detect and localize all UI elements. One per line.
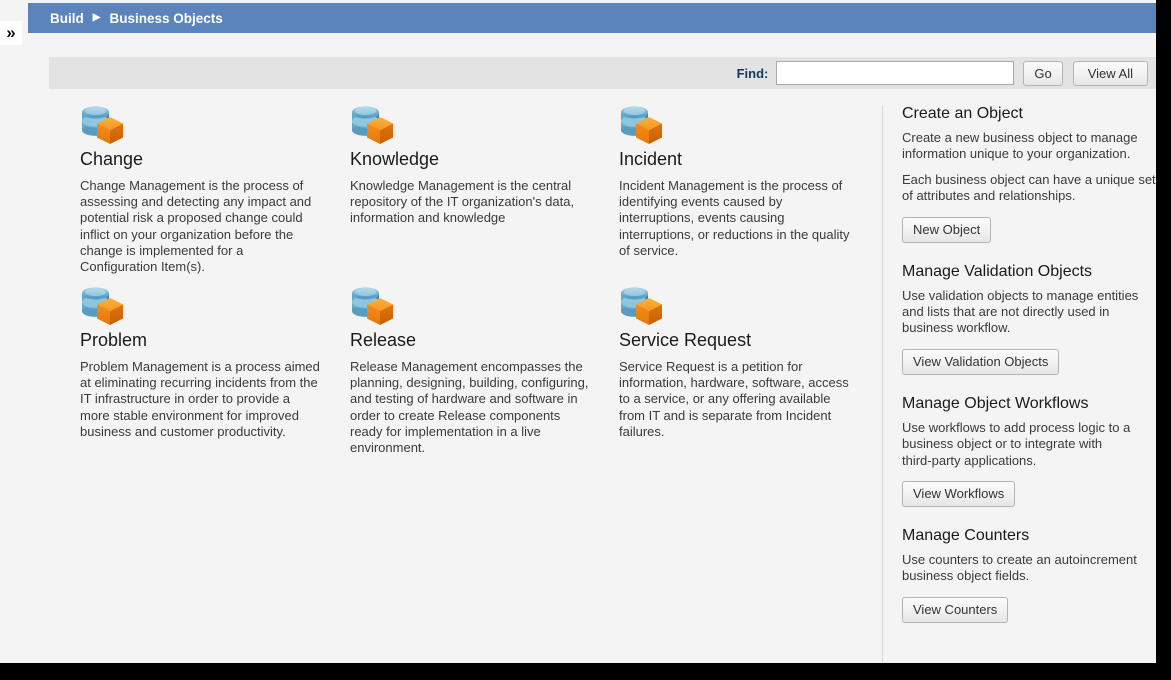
- section-title: Create an Object: [902, 104, 1156, 124]
- viewport-clip-bottom: [0, 663, 1171, 680]
- section-paragraph: Use workflows to add process logic to a …: [902, 420, 1156, 469]
- business-object-card-release[interactable]: Release Release Management encompasses t…: [350, 281, 590, 456]
- view-counters-button[interactable]: View Counters: [902, 597, 1008, 623]
- business-object-icon: [619, 281, 667, 327]
- search-input[interactable]: [776, 61, 1014, 85]
- go-button[interactable]: Go: [1023, 61, 1062, 86]
- view-all-button[interactable]: View All: [1073, 61, 1148, 86]
- chevron-right-icon: ▶: [93, 13, 101, 23]
- breadcrumb-item-business-objects[interactable]: Business Objects: [109, 11, 222, 26]
- business-object-description: Knowledge Management is the central repo…: [350, 178, 590, 227]
- paragraph-line: business object or to integrate with: [902, 436, 1102, 451]
- business-object-icon: [80, 100, 128, 146]
- screenshot-root: » Build ▶ Business Objects Find: Go View…: [0, 0, 1171, 680]
- paragraph-line: Use validation objects to manage entitie…: [902, 288, 1138, 303]
- business-object-card-service-request[interactable]: Service Request Service Request is a pet…: [619, 281, 851, 440]
- business-object-description: Problem Management is a process aimed at…: [80, 359, 320, 440]
- business-object-card-problem[interactable]: Problem Problem Management is a process …: [80, 281, 320, 440]
- paragraph-line: of attributes and relationships.: [902, 188, 1075, 203]
- business-object-icon: [350, 281, 398, 327]
- application-viewport: » Build ▶ Business Objects Find: Go View…: [0, 0, 1156, 663]
- paragraph-line: and lists that are not directly used in: [902, 304, 1109, 319]
- find-label: Find:: [737, 66, 769, 81]
- business-objects-grid: Change Change Management is the process …: [49, 96, 882, 663]
- section-paragraph: Create a new business object to manage i…: [902, 130, 1156, 163]
- business-object-description: Service Request is a petition for inform…: [619, 359, 851, 440]
- view-workflows-button[interactable]: View Workflows: [902, 481, 1015, 507]
- section-title: Manage Validation Objects: [902, 262, 1156, 282]
- paragraph-line: Use counters to create an autoincrement: [902, 552, 1137, 567]
- business-object-icon: [350, 100, 398, 146]
- left-rail: »: [0, 0, 28, 663]
- viewport-clip-right: [1156, 0, 1171, 680]
- business-object-icon: [80, 281, 128, 327]
- actions-sidebar: Create an Object Create a new business o…: [902, 104, 1156, 663]
- business-object-description: Change Management is the process of asse…: [80, 178, 312, 275]
- business-object-card-incident[interactable]: Incident Incident Management is the proc…: [619, 100, 854, 259]
- double-chevron-right-icon[interactable]: »: [0, 21, 22, 45]
- breadcrumb: Build ▶ Business Objects: [28, 3, 1156, 33]
- sidebar-section-create-an-object: Create an Object Create a new business o…: [902, 104, 1156, 243]
- section-paragraph: Each business object can have a unique s…: [902, 172, 1156, 205]
- sidebar-section-manage-validation-objects: Manage Validation Objects Use validation…: [902, 262, 1156, 375]
- paragraph-line: information unique to your organization.: [902, 146, 1130, 161]
- find-toolbar: Find: Go View All: [49, 57, 1156, 89]
- business-object-title[interactable]: Service Request: [619, 329, 851, 351]
- paragraph-line: business object fields.: [902, 568, 1029, 583]
- business-object-description: Incident Management is the process of id…: [619, 178, 854, 259]
- paragraph-line: business workflow.: [902, 320, 1010, 335]
- section-title: Manage Counters: [902, 526, 1156, 546]
- paragraph-line: Each business object can have a unique s…: [902, 172, 1156, 187]
- business-object-icon: [619, 100, 667, 146]
- breadcrumb-item-build[interactable]: Build: [50, 11, 84, 26]
- business-object-description: Release Management encompasses the plann…: [350, 359, 590, 456]
- sidebar-section-manage-object-workflows: Manage Object Workflows Use workflows to…: [902, 394, 1156, 507]
- business-object-card-knowledge[interactable]: Knowledge Knowledge Management is the ce…: [350, 100, 590, 227]
- business-object-title[interactable]: Problem: [80, 329, 320, 351]
- sidebar-divider: [882, 105, 883, 663]
- business-object-title[interactable]: Change: [80, 148, 312, 170]
- business-object-title[interactable]: Knowledge: [350, 148, 590, 170]
- section-paragraph: Use validation objects to manage entitie…: [902, 288, 1156, 337]
- business-object-card-change[interactable]: Change Change Management is the process …: [80, 100, 312, 275]
- paragraph-line: Use workflows to add process logic to a: [902, 420, 1130, 435]
- section-title: Manage Object Workflows: [902, 394, 1156, 414]
- new-object-button[interactable]: New Object: [902, 217, 991, 243]
- business-object-title[interactable]: Release: [350, 329, 590, 351]
- section-paragraph: Use counters to create an autoincrement …: [902, 552, 1156, 585]
- sidebar-section-manage-counters: Manage Counters Use counters to create a…: [902, 526, 1156, 623]
- paragraph-line: third-party applications.: [902, 453, 1036, 468]
- business-object-title[interactable]: Incident: [619, 148, 854, 170]
- paragraph-line: Create a new business object to manage: [902, 130, 1138, 145]
- view-validation-objects-button[interactable]: View Validation Objects: [902, 349, 1059, 375]
